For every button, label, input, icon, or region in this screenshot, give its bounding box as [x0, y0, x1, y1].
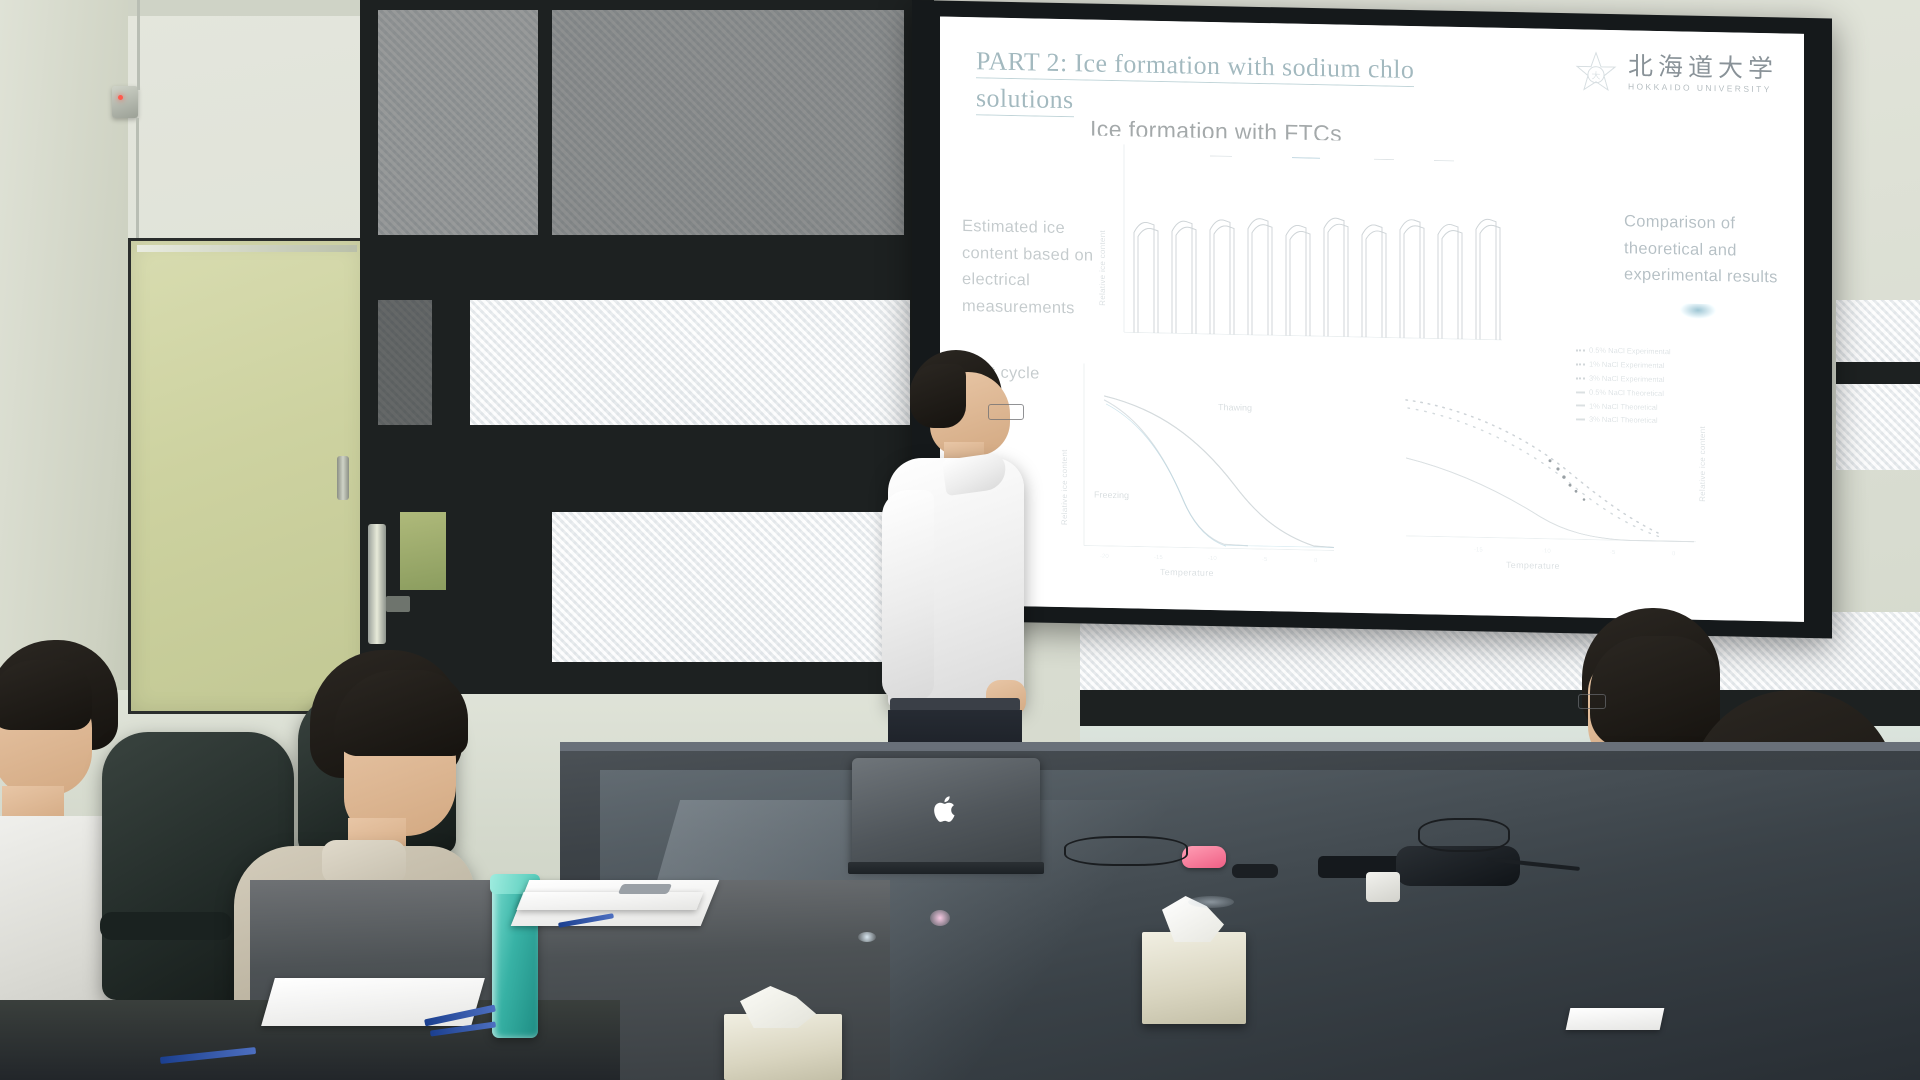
far-left-hair-front — [0, 660, 92, 730]
chart-theory-xlabel: Temperature — [1506, 560, 1560, 571]
chart-first-cycle-label-thawing: Thawing — [1218, 402, 1252, 413]
window-glass-mid — [470, 300, 910, 425]
chart-theory-svg: -15-10 -50 — [1400, 346, 1720, 612]
wall-dark-band-right-1 — [1836, 362, 1920, 384]
table-highlight-2 — [858, 932, 876, 942]
slide-blue-accent-shape — [1678, 303, 1718, 320]
svg-text:-15: -15 — [1474, 547, 1483, 553]
window-green-reflection — [400, 512, 446, 590]
legend-item-5: 3% NaCl Theoretical — [1576, 413, 1671, 429]
person-presenter — [860, 350, 1050, 770]
chart-first-cycle-label-freezing: Freezing — [1094, 490, 1129, 501]
svg-text:0: 0 — [1314, 558, 1318, 564]
left-attendee-collar — [322, 840, 406, 884]
slide-part-title-line1: PART 2: Ice formation with sodium chlo — [976, 46, 1414, 87]
presenter-hair-side — [910, 364, 966, 428]
logo-english-name: HOKKAIDO UNIVERSITY — [1628, 83, 1778, 95]
svg-text:-5: -5 — [1262, 557, 1268, 563]
chart-theory-legend: 0.5% NaCl Experimental 1% NaCl Experimen… — [1576, 343, 1671, 428]
cable-loop-2 — [1418, 818, 1510, 852]
slide-note-comparison: Comparison of theoretical and experiment… — [1624, 208, 1784, 291]
white-adapter[interactable] — [1366, 872, 1400, 902]
table-highlight-1 — [930, 910, 950, 926]
paper-stack-left[interactable] — [516, 892, 703, 910]
wall-sensor — [112, 86, 138, 118]
panel-handle — [337, 456, 349, 500]
logo-japanese-name: 北海道大学 — [1628, 53, 1778, 82]
projection-screen: PART 2: Ice formation with sodium chlo s… — [912, 0, 1832, 638]
diamond-plate-wall-upper — [1836, 300, 1920, 362]
seminar-room-photo: PART 2: Ice formation with sodium chlo s… — [0, 0, 1920, 1080]
chart-ftc-svg — [1082, 135, 1512, 374]
apple-logo-icon — [933, 794, 959, 824]
cable-bundle[interactable] — [1396, 846, 1520, 886]
presenter-arm — [882, 490, 934, 700]
chart-theory-vs-experiment: -15-10 -50 0.5% NaCl Experimental 1% NaC… — [1400, 346, 1720, 612]
table-highlight-3 — [1188, 896, 1234, 908]
office-chair-arm — [100, 912, 232, 940]
hokkaido-university-logo: 大 北海道大学 HOKKAIDO UNIVERSITY — [1574, 49, 1778, 97]
chart-first-cycle-svg: -20-15 -10-5 0 — [1048, 349, 1348, 605]
sensor-wire-lower — [136, 118, 139, 248]
presenter-glasses-icon — [988, 404, 1024, 420]
chart-theory-ylabel: Relative ice content — [1698, 426, 1707, 502]
logo-text-group: 北海道大学 HOKKAIDO UNIVERSITY — [1628, 53, 1778, 94]
paper-right-edge[interactable] — [1566, 1008, 1665, 1030]
window-glass-upper-right — [552, 10, 904, 235]
pink-item[interactable] — [1182, 846, 1226, 868]
chart-first-cycle-ylabel: Relative ice content — [1060, 449, 1069, 525]
black-adapter-1[interactable] — [1232, 864, 1278, 878]
screen-surface: PART 2: Ice formation with sodium chlo s… — [940, 17, 1804, 622]
sensor-wire — [137, 0, 140, 90]
svg-text:-5: -5 — [1610, 550, 1616, 556]
slide-part-title-line2: solutions — [976, 83, 1074, 117]
window-latch[interactable] — [386, 596, 410, 612]
window-handle[interactable] — [368, 524, 386, 644]
cable-loop-1 — [1064, 836, 1188, 866]
svg-text:-15: -15 — [1154, 555, 1163, 561]
svg-text:大: 大 — [1591, 70, 1600, 82]
window-glass-lower — [552, 512, 912, 662]
clipboard-clip — [618, 884, 672, 894]
tissue-box[interactable] — [1142, 932, 1246, 1024]
panel-top-strip — [137, 245, 357, 252]
presentation-slide: PART 2: Ice formation with sodium chlo s… — [940, 17, 1804, 622]
pink-attendee-glasses-icon — [1578, 694, 1606, 709]
svg-text:-10: -10 — [1208, 556, 1217, 562]
sensor-led-icon — [118, 95, 123, 100]
university-star-icon: 大 — [1574, 49, 1618, 94]
svg-text:-20: -20 — [1100, 554, 1109, 560]
svg-text:0: 0 — [1672, 551, 1676, 557]
window-glass-mid-left — [378, 300, 432, 425]
chart-ftc-timeseries: Relative ice content — [1082, 135, 1512, 374]
macbook-laptop[interactable] — [852, 758, 1040, 868]
chart-first-cycle: -20-15 -10-5 0 Thawing Freezing Relative… — [1048, 349, 1348, 605]
window-glass-upper-left — [378, 10, 538, 235]
svg-text:-10: -10 — [1542, 549, 1551, 555]
slide-note-estimated-ice-content: Estimated ice content based on electrica… — [962, 213, 1122, 323]
diamond-plate-wall-right — [1836, 384, 1920, 470]
table-front-edge — [560, 742, 1920, 751]
macbook-base — [848, 862, 1044, 874]
slide-part-title: PART 2: Ice formation with sodium chlo s… — [976, 43, 1536, 128]
chart-first-cycle-xlabel: Temperature — [1160, 567, 1214, 578]
